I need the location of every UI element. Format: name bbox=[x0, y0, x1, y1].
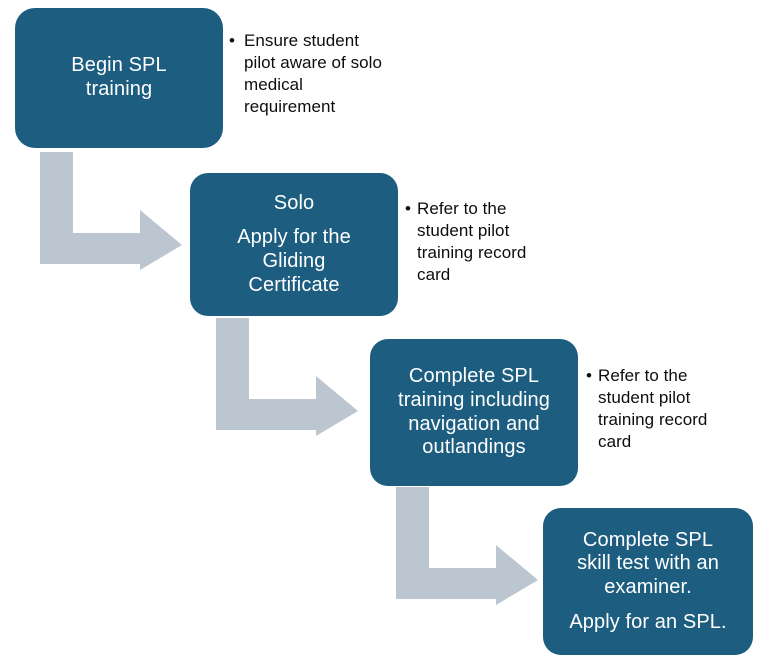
box4-line-1: Complete SPL bbox=[555, 529, 741, 553]
note-begin-spl-training: • Ensure student pilot aware of solo med… bbox=[229, 30, 384, 118]
box4-line-2: skill test with an bbox=[555, 552, 741, 576]
connector-arrow-step3-to-step4 bbox=[396, 487, 538, 605]
note-solo-apply-gliding-certificate: • Refer to the student pilot training re… bbox=[405, 198, 555, 286]
elbow-arrow-shape bbox=[216, 318, 358, 436]
process-box-complete-spl-skill-test[interactable]: Complete SPL skill test with an examiner… bbox=[543, 508, 753, 655]
flowchart-canvas: Begin SPL training • Ensure student pilo… bbox=[0, 0, 768, 655]
box2-line-1: Solo bbox=[202, 192, 386, 216]
box3-line-4: outlandings bbox=[382, 436, 566, 460]
bullet-item: • Refer to the student pilot training re… bbox=[586, 365, 738, 453]
box2-line-2: Apply for the bbox=[202, 226, 386, 250]
bullet-point-icon: • bbox=[405, 198, 411, 220]
box2-line-3: Gliding bbox=[202, 250, 386, 274]
box1-line-2: training bbox=[27, 78, 211, 102]
box3-line-2: training including bbox=[382, 389, 566, 413]
box1-line-1: Begin SPL bbox=[27, 54, 211, 78]
connector-arrow-step2-to-step3 bbox=[216, 318, 358, 436]
process-box-begin-spl-training[interactable]: Begin SPL training bbox=[15, 8, 223, 148]
note-complete-spl-training: • Refer to the student pilot training re… bbox=[586, 365, 738, 453]
process-box-solo-apply-gliding-certificate[interactable]: Solo Apply for the Gliding Certificate bbox=[190, 173, 398, 316]
process-box-complete-spl-training[interactable]: Complete SPL training including navigati… bbox=[370, 339, 578, 486]
elbow-arrow-shape bbox=[40, 152, 182, 270]
box3-line-3: navigation and bbox=[382, 413, 566, 437]
box3-line-1: Complete SPL bbox=[382, 365, 566, 389]
bullet-point-icon: • bbox=[229, 30, 235, 52]
bullet-item: • Refer to the student pilot training re… bbox=[405, 198, 555, 286]
bullet-text: Refer to the student pilot training reco… bbox=[598, 365, 738, 453]
box2-line-4: Certificate bbox=[202, 274, 386, 298]
bullet-point-icon: • bbox=[586, 365, 592, 387]
bullet-text: Ensure student pilot aware of solo medic… bbox=[244, 30, 384, 118]
connector-arrow-step1-to-step2 bbox=[40, 152, 182, 270]
elbow-arrow-shape bbox=[396, 487, 538, 605]
box4-line-3: examiner. bbox=[555, 576, 741, 600]
bullet-item: • Ensure student pilot aware of solo med… bbox=[229, 30, 384, 118]
bullet-text: Refer to the student pilot training reco… bbox=[417, 198, 555, 286]
box4-line-4: Apply for an SPL. bbox=[555, 611, 741, 635]
